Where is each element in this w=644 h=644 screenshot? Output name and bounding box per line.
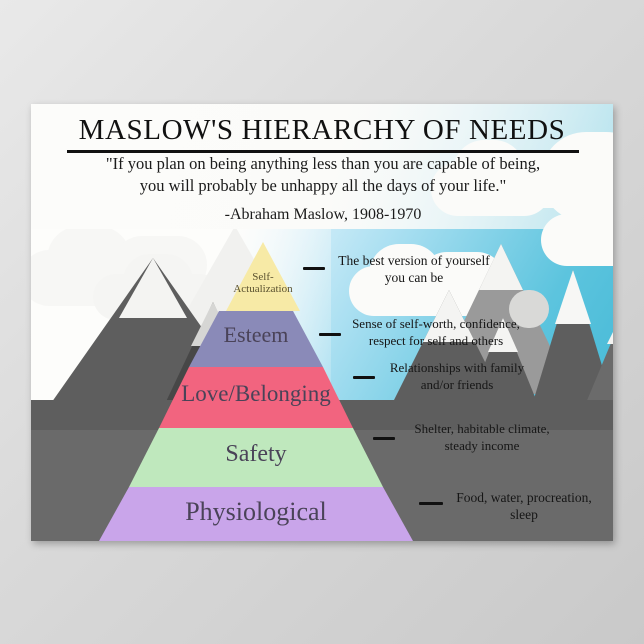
annotation-safety: Shelter, habitable climate, steady incom… [387, 421, 577, 454]
tier-label-text: Physiological [185, 497, 327, 526]
tier-label-text: Love/Belonging [181, 381, 330, 406]
annotation-line-2: sleep [429, 506, 613, 523]
screenshot-root: MASLOW'S HIERARCHY OF NEEDS "If you plan… [0, 0, 644, 644]
annotation-esteem: Sense of self-worth, confidence, respect… [337, 316, 535, 349]
annotation-line-1: Food, water, procreation, [429, 489, 613, 506]
annotation-physiological: Food, water, procreation, sleep [429, 489, 613, 524]
pyramid-tier-label-physiological: Physiological [99, 498, 413, 525]
maslow-poster: MASLOW'S HIERARCHY OF NEEDS "If you plan… [31, 104, 613, 541]
annotation-line-1: The best version of yourself [319, 252, 509, 269]
annotation-line-2: and/or friends [367, 377, 547, 394]
tier-label-line-2: Actualization [233, 283, 292, 295]
pyramid-tier-label-self-actualization: Self- Actualization [203, 272, 323, 295]
poster-canvas: MASLOW'S HIERARCHY OF NEEDS "If you plan… [31, 104, 613, 541]
annotation-love-belonging: Relationships with family and/or friends [367, 360, 547, 393]
annotation-line-2: you can be [319, 269, 509, 286]
annotation-self-actualization: The best version of yourself you can be [319, 252, 509, 287]
tier-label-text: Esteem [224, 322, 289, 347]
annotation-line-2: steady income [387, 438, 577, 455]
annotation-line-1: Sense of self-worth, confidence, [337, 316, 535, 333]
pyramid-tier-label-esteem: Esteem [189, 323, 323, 346]
annotation-line-1: Relationships with family [367, 360, 547, 377]
pyramid-tier-label-love-belonging: Love/Belonging [159, 382, 353, 406]
tier-label-text: Safety [225, 441, 286, 467]
annotation-line-1: Shelter, habitable climate, [387, 421, 577, 438]
tier-label-line-1: Self- [252, 271, 273, 283]
pyramid-tier-label-safety: Safety [129, 442, 383, 467]
annotation-line-2: respect for self and others [337, 333, 535, 350]
